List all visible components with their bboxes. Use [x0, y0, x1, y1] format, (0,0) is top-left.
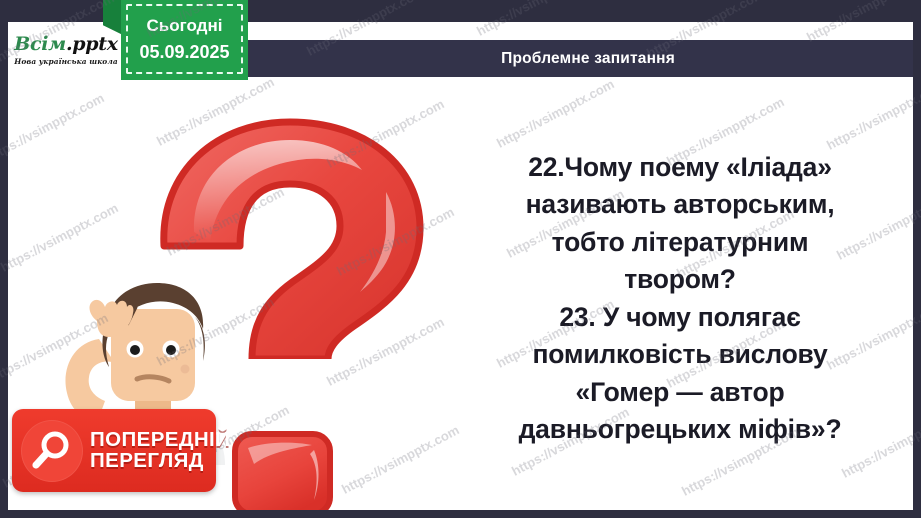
question-line: 23. У чому полягає [440, 299, 913, 336]
date-badge-label: Сьогодні [147, 17, 223, 36]
logo-tagline: Нова українська школа [14, 57, 118, 66]
question-text-block: 22.Чому поему «Іліада» називають авторсь… [440, 149, 913, 449]
preview-badge-line2: ПЕРЕГЛЯД [90, 451, 230, 472]
page-title: Проблемне запитання [501, 50, 675, 68]
date-badge-value: 05.09.2025 [139, 43, 229, 63]
date-badge: Сьогодні 05.09.2025 [121, 0, 248, 80]
question-line: 22.Чому поему «Іліада» [440, 149, 913, 186]
question-line: давньогрецьких міфів»? [440, 411, 913, 448]
question-line: називають авторським, [440, 186, 913, 223]
logo-wordmark: Всім.pptx [14, 35, 118, 54]
question-line: тобто літературним [440, 224, 913, 261]
screenshot-stage: 22.Чому поему «Іліада» називають авторсь… [0, 0, 921, 518]
magnifier-icon [21, 420, 83, 482]
preview-badge-labels: ПОПЕРЕДНІЙ ПЕРЕГЛЯД [90, 430, 230, 472]
logo-brand-prefix: Всім [14, 33, 66, 55]
question-line: твором? [440, 261, 913, 298]
question-line: помилковість вислову [440, 336, 913, 373]
logo-brand-suffix: .pptx [66, 33, 118, 55]
brand-logo: Всім.pptx Нова українська школа [12, 28, 120, 72]
preview-badge-line1: ПОПЕРЕДНІЙ [90, 430, 230, 451]
slide-header-bar: Проблемне запитання [248, 40, 913, 77]
question-line: «Гомер — автор [440, 374, 913, 411]
preview-badge[interactable]: ПОПЕРЕДНІЙ ПЕРЕГЛЯД [12, 409, 216, 492]
